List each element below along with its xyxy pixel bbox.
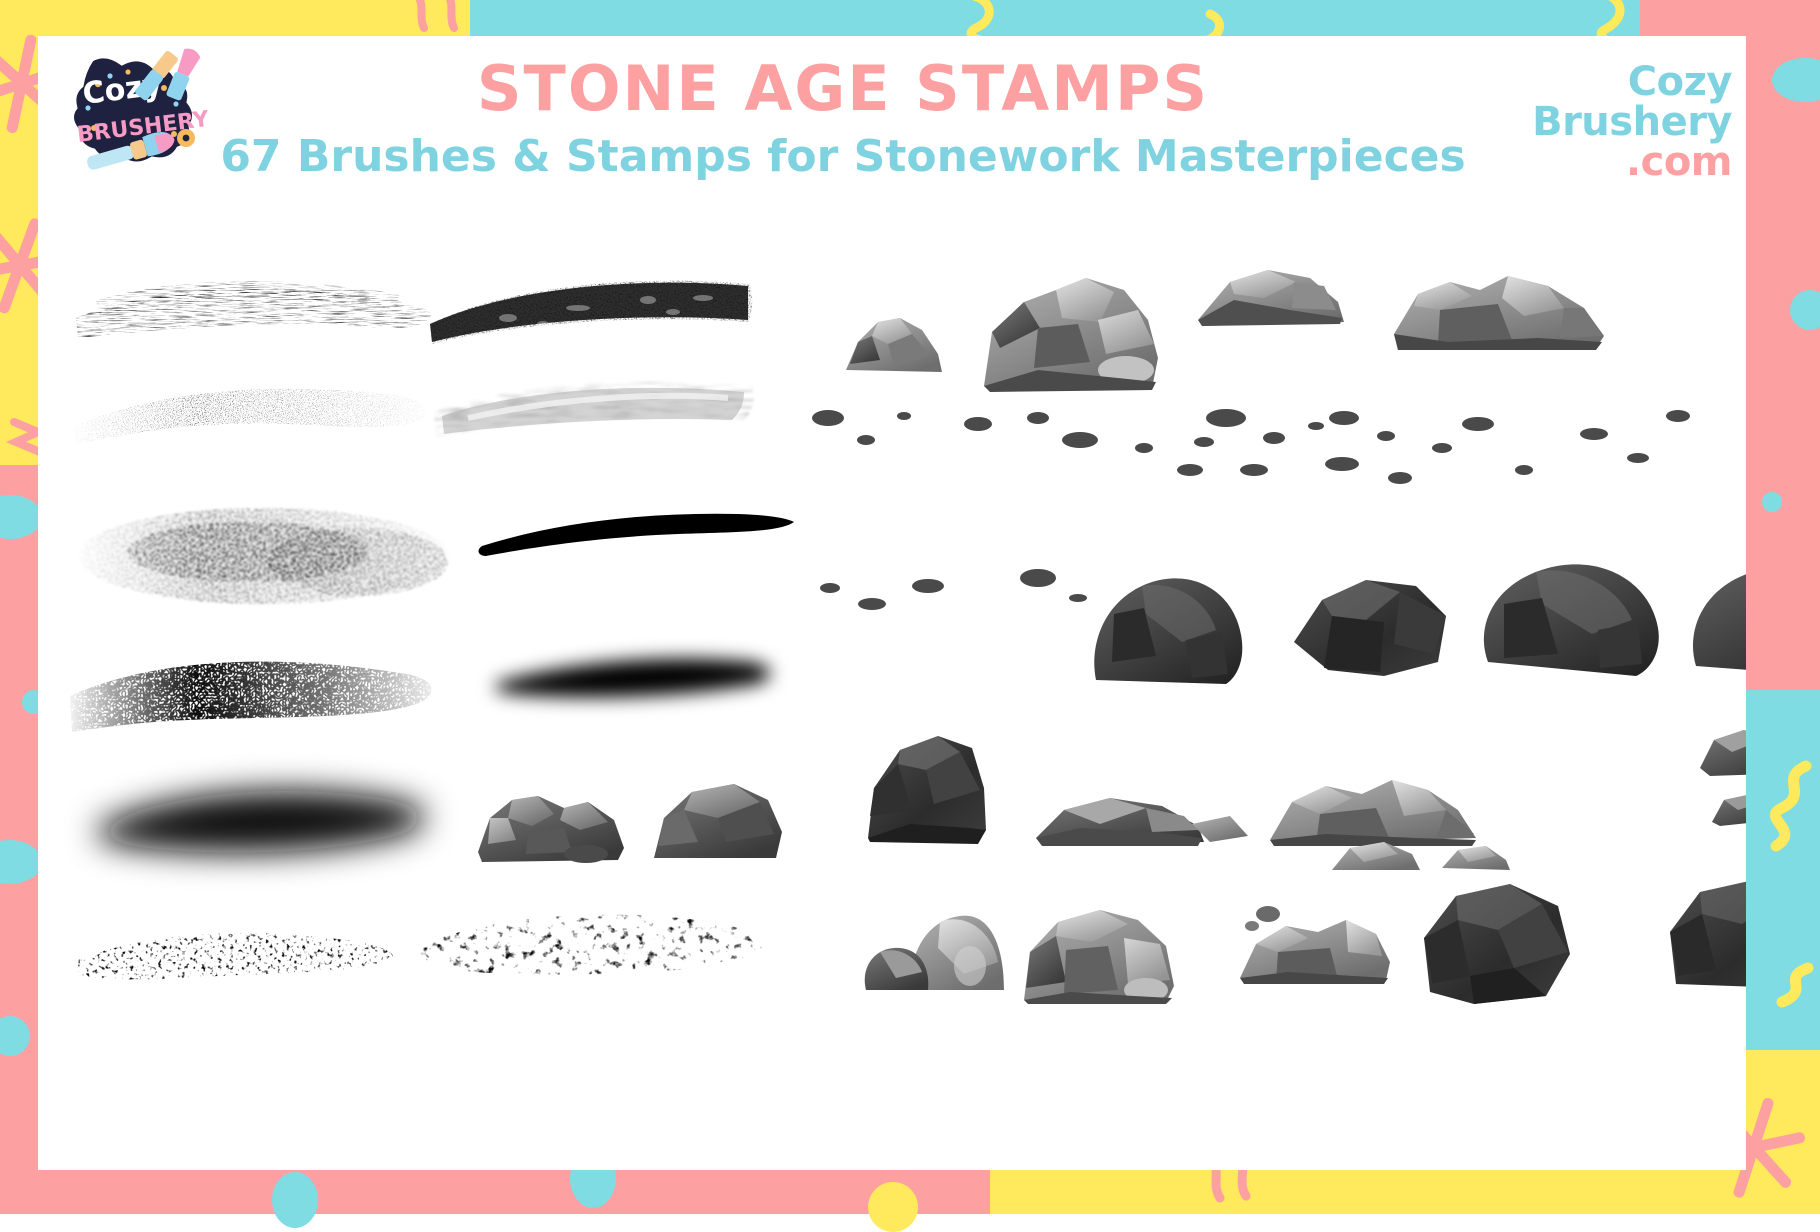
product-canvas: Cozy BRUSHERY STONE AGE STAMPS 67 Brushe…	[38, 36, 1746, 1170]
boulder-edge-right	[1693, 568, 1746, 678]
stroke-debris-scatter-fine	[78, 933, 394, 979]
stroke-soft-blur	[97, 791, 425, 853]
stroke-speckle-grain	[74, 389, 426, 444]
rock-cluster-small	[478, 796, 624, 863]
squiggle-decoration-right-2	[1756, 960, 1820, 1020]
page-subtitle: 67 Brushes & Stamps for Stonework Master…	[208, 131, 1478, 182]
stroke-blur-band	[495, 659, 771, 698]
header: Cozy BRUSHERY STONE AGE STAMPS 67 Brushe…	[38, 36, 1746, 226]
title-block: STONE AGE STAMPS 67 Brushes & Stamps for…	[208, 56, 1478, 182]
rock-cluster-large	[984, 278, 1158, 392]
brand-line-1: Cozy	[1532, 62, 1732, 102]
stroke-spray-gradient	[78, 508, 448, 604]
brand-line-2: Brushery	[1532, 102, 1732, 142]
pebble-field-lower	[820, 569, 1087, 610]
boulder-oval	[1484, 564, 1659, 676]
stroke-debris-scatter-chunky	[420, 915, 764, 975]
border-top-yellow	[0, 0, 470, 36]
squiggle-decoration-top-4	[404, 0, 474, 40]
rock-debris-spread-low	[1332, 842, 1510, 870]
rock-chunk-dark-1	[1700, 730, 1746, 776]
cozy-brushery-logo: Cozy BRUSHERY	[64, 42, 204, 172]
border-top-teal	[470, 0, 1640, 36]
rock-chunk-dark-right	[1670, 880, 1746, 988]
stroke-halftone-mesh	[70, 662, 431, 732]
page-title: STONE AGE STAMPS	[208, 56, 1478, 121]
rock-chunk-dark-2	[1712, 794, 1746, 826]
boulder-round	[1094, 578, 1242, 684]
rock-shards-flat	[1036, 798, 1248, 846]
circle-decoration-right-3	[1762, 492, 1782, 512]
rock-slab-low	[654, 784, 782, 858]
rock-rubble-cluster	[1240, 906, 1390, 984]
boulder-angular-large	[1424, 884, 1570, 1004]
stroke-washed-marble	[434, 382, 754, 438]
pebble-field-left	[812, 410, 911, 445]
pebble-field-right	[964, 409, 1690, 484]
boulder-faceted	[1294, 580, 1446, 676]
stroke-dense-grain-ribbon	[430, 281, 752, 344]
sample-gallery	[38, 226, 1746, 1170]
rock-mound-layered	[1024, 910, 1174, 1004]
brand-url: Cozy Brushery .com	[1532, 62, 1732, 182]
rock-debris-spread	[1270, 780, 1476, 846]
rock-cluster-small-top	[846, 318, 942, 372]
brand-line-3: .com	[1532, 142, 1732, 182]
rock-pile-dark	[868, 736, 986, 844]
stroke-charcoal-scratchy	[76, 289, 432, 338]
squiggle-decoration-right-1	[1760, 760, 1820, 860]
stroke-solid-taper	[479, 514, 794, 556]
rock-ridge-wide	[1198, 270, 1344, 326]
rock-outcrop-far-right	[1394, 276, 1604, 350]
border-right-pink	[1746, 0, 1820, 690]
circle-decoration-bottom-1	[272, 1172, 318, 1228]
circle-decoration-bottom-3	[868, 1182, 918, 1232]
gallery-artwork	[38, 226, 1746, 1170]
border-left-pink	[0, 465, 38, 1050]
